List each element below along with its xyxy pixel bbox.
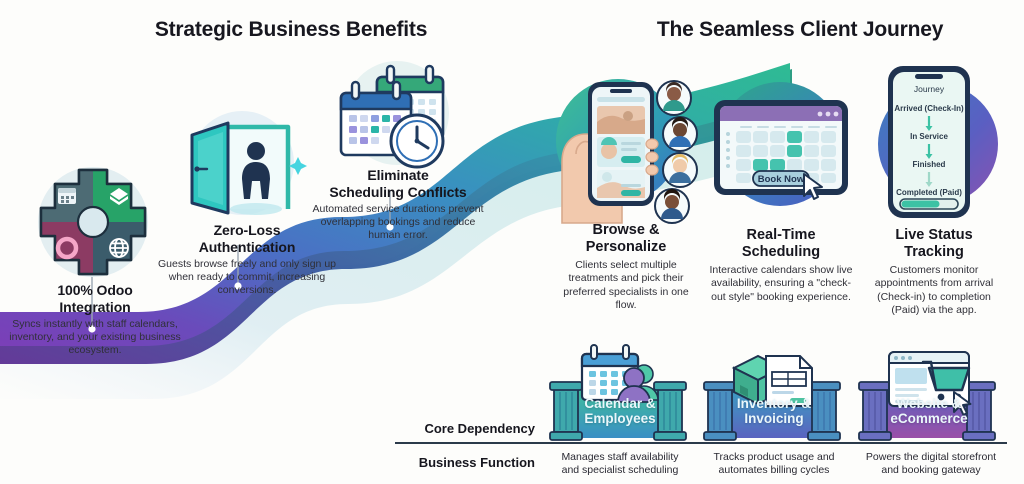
journey-step-4: Completed (Paid) [896,188,962,197]
progress-fill [902,201,940,208]
journey-icon-phone-in-hand [552,58,704,223]
pillar-website-ecommerce: Website & eCommerce [855,340,1003,443]
calendar-glyph [58,188,76,204]
pillar-caption-calendar: Manages staff availability and specialis… [540,451,700,477]
journey-card-live-status: Live Status Tracking Customers monitor a… [864,227,1004,317]
journey-step-2: In Service [910,132,948,141]
journey-title-line1: Real-Time [746,227,815,243]
benefit-icon-odoo-gear [18,165,168,285]
right-section-title: The Seamless Client Journey [620,18,980,42]
left-section-title: Strategic Business Benefits [126,18,456,42]
journey-step-3: Finished [913,160,946,169]
journey-body: Customers monitor appointments from arri… [864,264,1004,317]
pillar-caption-inventory: Tracks product usage and automates billi… [694,451,854,477]
benefit-title-line1: 100% Odoo [57,282,132,298]
clock-glyph [391,115,443,167]
journey-icon-status-phone: Journey Arrived (Check-In) In Service Fi… [860,58,1012,223]
book-now-label[interactable]: Book Now [758,174,805,185]
journey-card-browse: Browse & Personalize Clients select mult… [552,222,700,312]
journey-step-1: Arrived (Check-In) [894,104,964,113]
journey-title-line2: Personalize [586,239,667,255]
pillar-caption-website: Powers the digital storefront and bookin… [846,451,1016,477]
row-label-business-function: Business Function [395,455,535,470]
benefit-title-line1: Zero-Loss [214,222,281,238]
journey-screen-heading: Journey [914,84,945,94]
journey-body: Clients select multiple treatments and p… [552,259,700,312]
infographic-canvas: Strategic Business Benefits The Seamless… [0,0,1024,484]
benefit-title-line1: Eliminate [367,167,428,183]
benefit-icon-open-door [170,105,315,225]
benefit-title-line2: Scheduling Conflicts [329,184,466,200]
benefit-title-line2: Integration [59,299,130,315]
journey-title-line2: Tracking [904,244,964,260]
row-label-core-dependency: Core Dependency [395,421,535,436]
benefit-icon-calendar-clock [325,55,465,180]
benefit-body: Syncs instantly with staff calendars, in… [6,318,184,357]
benefit-body: Automated service durations prevent over… [312,203,484,242]
journey-title-line1: Live Status [895,227,972,243]
benefit-body: Guests browse freely and only sign up wh… [157,258,337,297]
benefit-card-scheduling-conflicts: Eliminate Scheduling Conflicts Automated… [312,167,484,242]
journey-title-line2: Scheduling [742,244,820,260]
journey-icon-tablet-calendar: Book Now [700,70,860,220]
invoice-glyph [766,356,812,406]
pillar-inventory-invoicing: Inventory & Invoicing [700,340,848,443]
journey-title-line1: Browse & [593,222,660,238]
benefit-title-line2: Authentication [199,239,296,255]
benefit-card-authentication: Zero-Loss Authentication Guests browse f… [157,222,337,297]
journey-body: Interactive calendars show live availabi… [708,264,854,304]
journey-card-scheduling: Real-Time Scheduling Interactive calenda… [708,227,854,304]
pillar-calendar-employees: Calendar & Employees [546,340,694,443]
